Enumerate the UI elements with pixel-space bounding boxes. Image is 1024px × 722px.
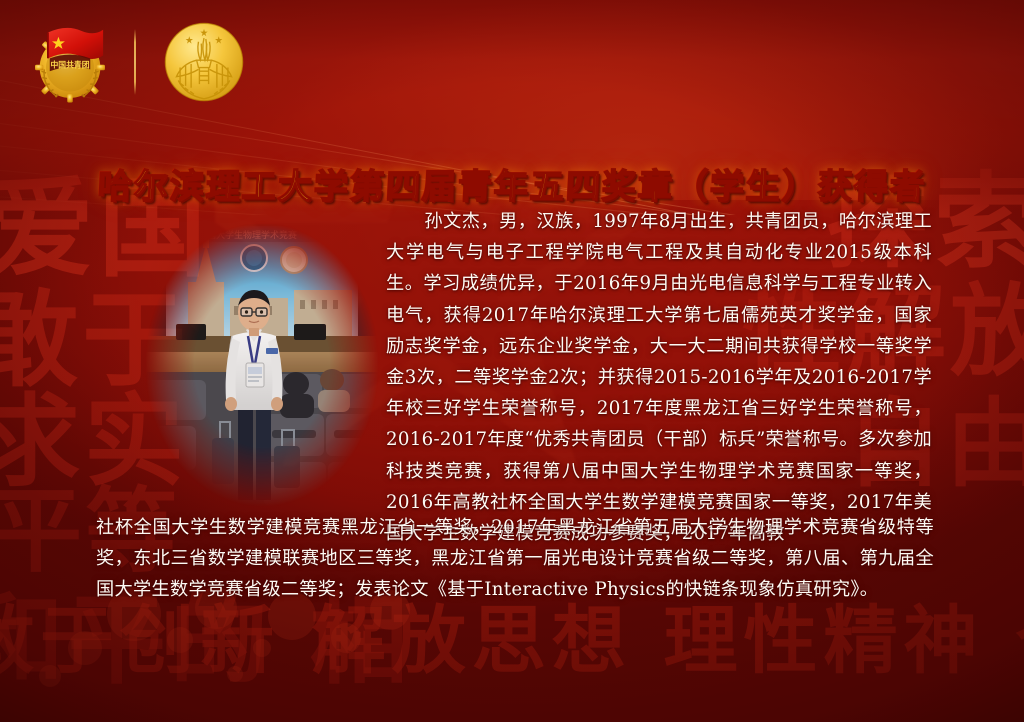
svg-text:中国共青团: 中国共青团 <box>50 60 89 70</box>
award-poster: 爱国 敢于创 求实 平等 和平的 相 探索 性解放 自由 敢于创新 解放思想 理… <box>0 0 1024 722</box>
page-title: 哈尔滨理工大学第四届青年五四奖章（学生）获得者 <box>0 159 1024 208</box>
biography-column: 孙文杰，男，汉族，1997年8月出生，共青团员，哈尔滨理工大学电气与电子工程学院… <box>386 206 932 549</box>
communist-youth-league-emblem-icon: 中国共青团 <box>24 16 116 108</box>
emblem-group: 中国共青团 <box>24 16 250 108</box>
photo-image: 八届中国大学生物理学术竞赛 <box>146 224 378 506</box>
emblem-divider <box>134 29 136 95</box>
may-fourth-medal-icon <box>158 16 250 108</box>
biography-column-text: 孙文杰，男，汉族，1997年8月出生，共青团员，哈尔滨理工大学电气与电子工程学院… <box>386 211 932 544</box>
award-recipient-photo: 八届中国大学生物理学术竞赛 <box>146 224 378 506</box>
biography-wide-text: 社杯全国大学生数学建模竞赛黑龙江省一等奖，2017年黑龙江省第五届大学生物理学术… <box>96 517 934 600</box>
biography-wide: 社杯全国大学生数学建模竞赛黑龙江省一等奖，2017年黑龙江省第五届大学生物理学术… <box>96 512 934 606</box>
